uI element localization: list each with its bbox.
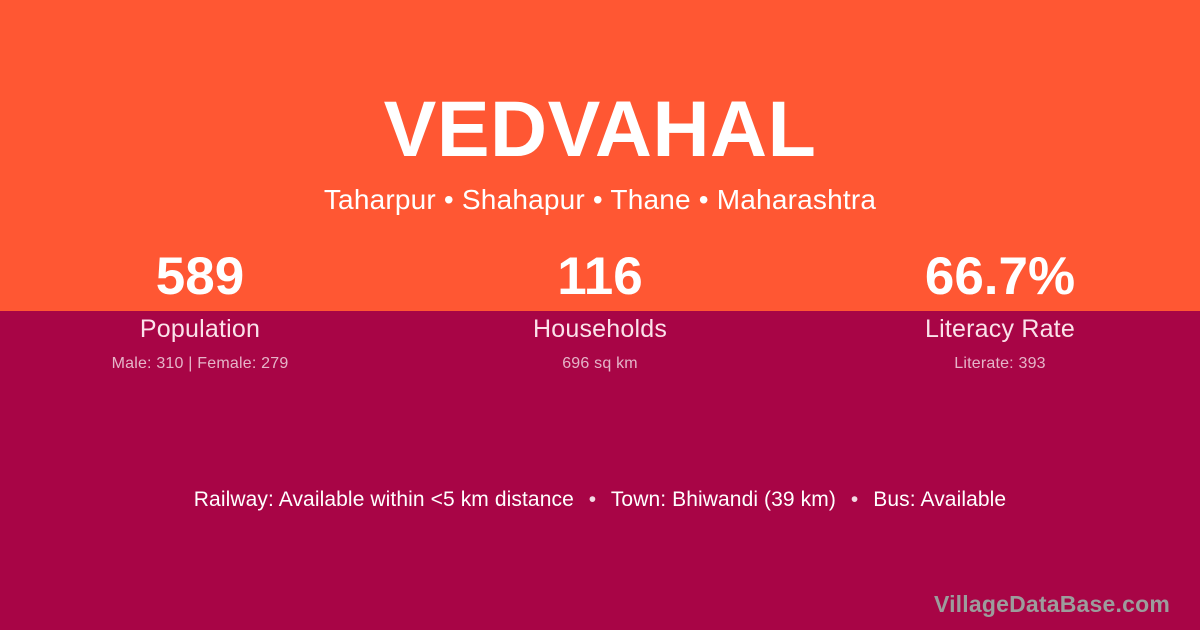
stat-detail: Literate: 393	[800, 354, 1200, 374]
bullet-separator-icon: •	[842, 485, 867, 515]
stat-households: 116 Households 696 sq km	[400, 246, 800, 374]
village-info-card: VEDVAHAL Taharpur • Shahapur • Thane • M…	[0, 0, 1200, 630]
stat-detail: Male: 310 | Female: 279	[0, 354, 400, 374]
stat-label: Literacy Rate	[800, 314, 1200, 344]
stat-detail: 696 sq km	[400, 354, 800, 374]
amenity-town: Town: Bhiwandi (39 km)	[611, 488, 836, 511]
stat-literacy-rate: 66.7% Literacy Rate Literate: 393	[800, 246, 1200, 374]
amenities-line: Railway: Available within <5 km distance…	[0, 485, 1200, 515]
breadcrumb: Taharpur • Shahapur • Thane • Maharashtr…	[0, 183, 1200, 217]
stat-label: Population	[0, 314, 400, 344]
stat-value: 66.7%	[800, 246, 1200, 308]
stats-row: 589 Population Male: 310 | Female: 279 1…	[0, 246, 1200, 374]
page-title: VEDVAHAL	[0, 89, 1200, 168]
stat-label: Households	[400, 314, 800, 344]
amenity-railway: Railway: Available within <5 km distance	[194, 488, 574, 511]
bullet-separator-icon: •	[580, 485, 605, 515]
amenity-bus: Bus: Available	[873, 488, 1006, 511]
stat-value: 116	[400, 246, 800, 308]
site-brand-watermark: VillageDataBase.com	[934, 590, 1170, 618]
stat-value: 589	[0, 246, 400, 308]
stat-population: 589 Population Male: 310 | Female: 279	[0, 246, 400, 374]
